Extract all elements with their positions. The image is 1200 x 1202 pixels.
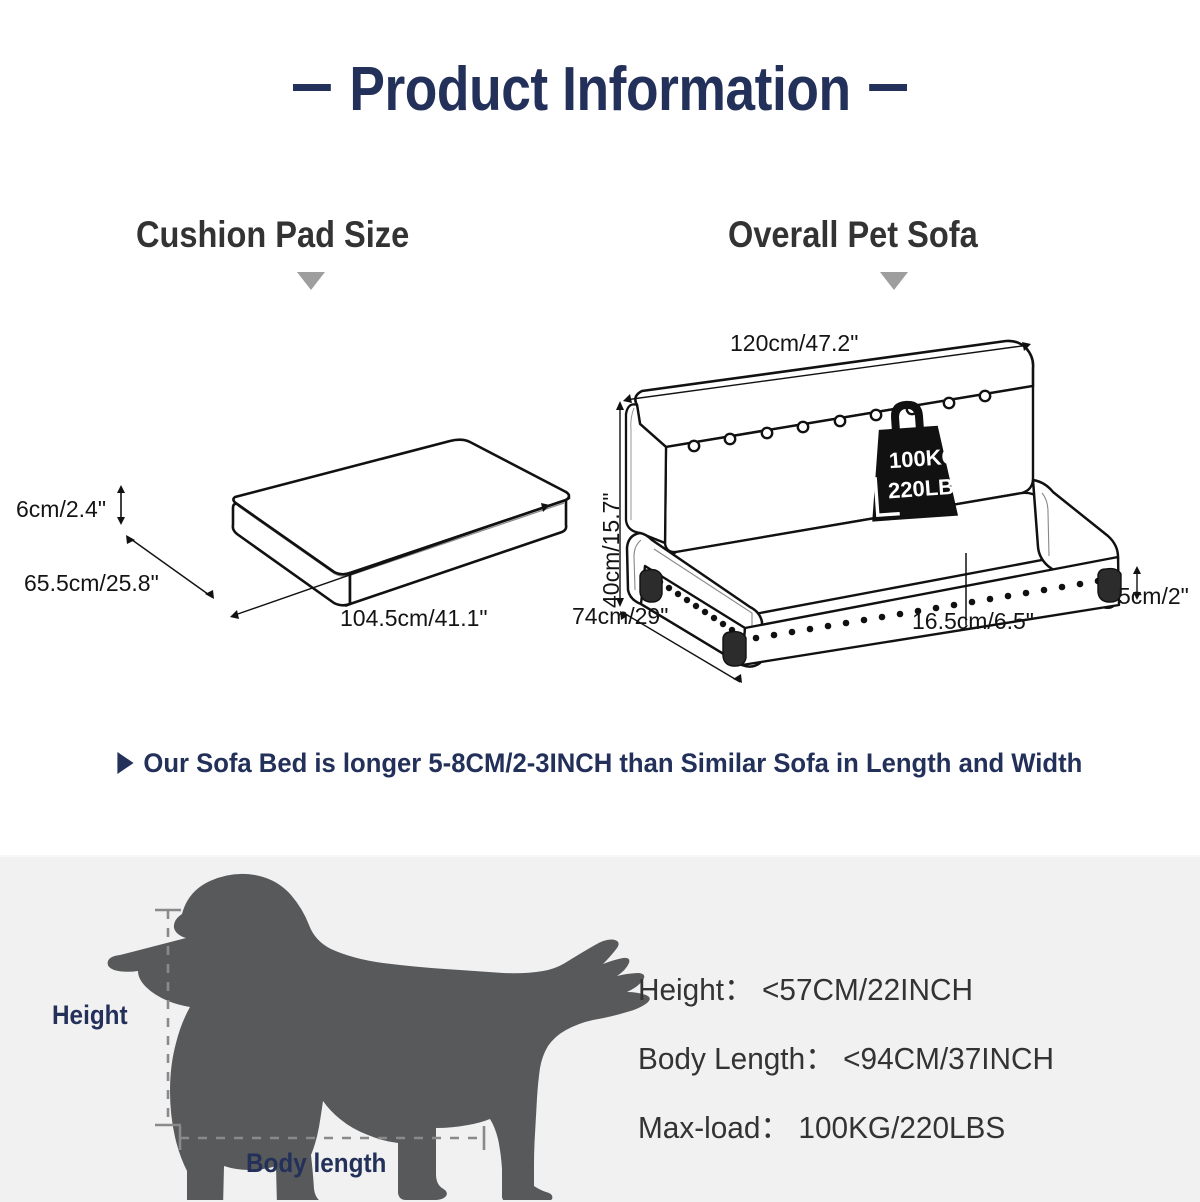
dim-cushion-width: 65.5cm/25.8": [24, 570, 159, 597]
claim-banner-text: Our Sofa Bed is longer 5-8CM/2-3INCH tha…: [143, 748, 1082, 778]
triangle-down-icon: [297, 272, 325, 290]
dim-sofa-length: 120cm/47.2": [730, 330, 858, 357]
title-dash-right: [870, 84, 908, 91]
section-heading-cushion: Cushion Pad Size: [136, 214, 409, 256]
cushion-pad-illustration: [0, 0, 1200, 855]
section-heading-sofa: Overall Pet Sofa: [728, 214, 978, 256]
dog-body-length-label: Body length: [246, 1148, 386, 1179]
load-badge-line1: 100KG/: [888, 443, 965, 473]
page-title: Product Information: [84, 54, 1116, 125]
dim-sofa-leg-height: 5cm/2": [1118, 583, 1189, 610]
dim-sofa-depth: 74cm/29": [572, 603, 668, 630]
claim-banner: Our Sofa Bed is longer 5-8CM/2-3INCH tha…: [30, 748, 1170, 779]
dim-sofa-base-height: 16.5cm/6.5": [912, 608, 1034, 635]
page-title-text: Product Information: [349, 55, 850, 124]
spec-body-length: Body Length： <94CM/37INCH: [638, 1033, 1054, 1078]
spec-height: Height： <57CM/22INCH: [638, 964, 973, 1009]
triangle-down-icon: [880, 272, 908, 290]
pet-sofa-illustration: 100KG/ 220LBS: [0, 0, 1200, 855]
product-information-panel: Product Information Cushion Pad Size Ove…: [0, 0, 1200, 855]
title-dash-left: [293, 84, 331, 91]
dim-cushion-length: 104.5cm/41.1": [340, 605, 488, 632]
load-badge-line2: 220LBS: [887, 473, 969, 504]
dog-height-label: Height: [52, 1000, 128, 1031]
dog-size-guide-panel: [0, 855, 1200, 1202]
dim-sofa-height: 40cm/15.7": [598, 492, 625, 608]
triangle-right-icon: [118, 752, 134, 774]
dim-cushion-thickness: 6cm/2.4": [16, 496, 106, 523]
spec-max-load: Max-load： 100KG/220LBS: [638, 1102, 1005, 1147]
